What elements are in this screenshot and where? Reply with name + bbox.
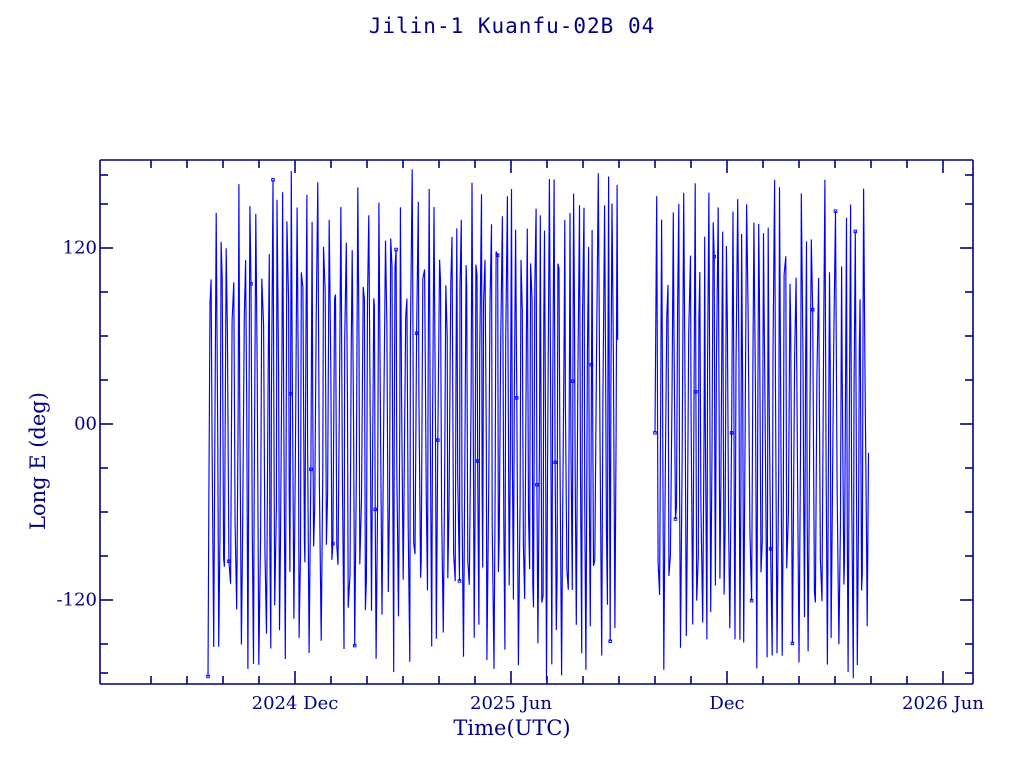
data-series-longitude — [207, 169, 869, 680]
chart-canvas: Jilin-1 Kuanfu-02B 04 Long E (deg) Time(… — [0, 0, 1024, 768]
plot-svg — [0, 0, 1024, 768]
